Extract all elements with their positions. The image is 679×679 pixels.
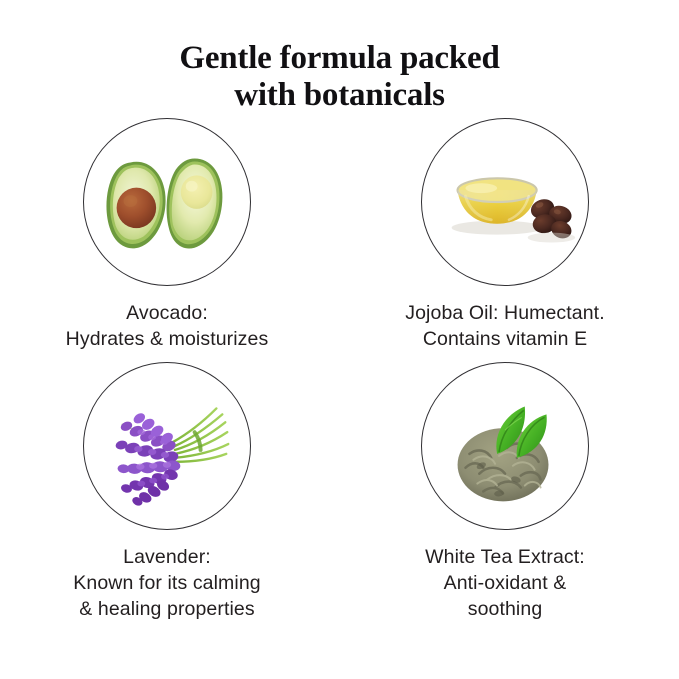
caption-line: Known for its calming — [2, 570, 332, 596]
page-title-line-2: with botanicals — [0, 77, 679, 114]
caption-line: White Tea Extract: — [340, 544, 670, 570]
white-tea-leaves-image — [422, 363, 588, 529]
ingredients-infographic: Gentle formula packed with botanicals — [0, 0, 679, 679]
ingredient-circle-lavender — [83, 362, 251, 530]
avocado-halves-image — [84, 119, 250, 285]
ingredient-circle-white-tea-extract — [421, 362, 589, 530]
jojoba-oil-bowl-image — [422, 119, 588, 285]
ingredient-card-jojoba-oil: Jojoba Oil: Humectant. Contains vitamin … — [340, 118, 670, 352]
ingredient-circle-jojoba-oil — [421, 118, 589, 286]
caption-line: Avocado: — [2, 300, 332, 326]
caption-line: Contains vitamin E — [340, 326, 670, 352]
lavender-bundle-image — [84, 363, 250, 529]
caption-line: Jojoba Oil: Humectant. — [340, 300, 670, 326]
ingredient-grid: Avocado: Hydrates & moisturizes — [0, 118, 679, 678]
ingredient-caption-white-tea-extract: White Tea Extract: Anti-oxidant & soothi… — [340, 544, 670, 622]
ingredient-circle-avocado — [83, 118, 251, 286]
ingredient-caption-lavender: Lavender: Known for its calming & healin… — [2, 544, 332, 622]
ingredient-card-white-tea-extract: White Tea Extract: Anti-oxidant & soothi… — [340, 362, 670, 622]
caption-line: & healing properties — [2, 596, 332, 622]
page-title: Gentle formula packed with botanicals — [0, 40, 679, 114]
caption-line: soothing — [340, 596, 670, 622]
caption-line: Lavender: — [2, 544, 332, 570]
ingredient-caption-avocado: Avocado: Hydrates & moisturizes — [2, 300, 332, 352]
caption-line: Hydrates & moisturizes — [2, 326, 332, 352]
ingredient-card-lavender: Lavender: Known for its calming & healin… — [2, 362, 332, 622]
ingredient-caption-jojoba-oil: Jojoba Oil: Humectant. Contains vitamin … — [340, 300, 670, 352]
caption-line: Anti-oxidant & — [340, 570, 670, 596]
ingredient-card-avocado: Avocado: Hydrates & moisturizes — [2, 118, 332, 352]
page-title-line-1: Gentle formula packed — [0, 40, 679, 77]
